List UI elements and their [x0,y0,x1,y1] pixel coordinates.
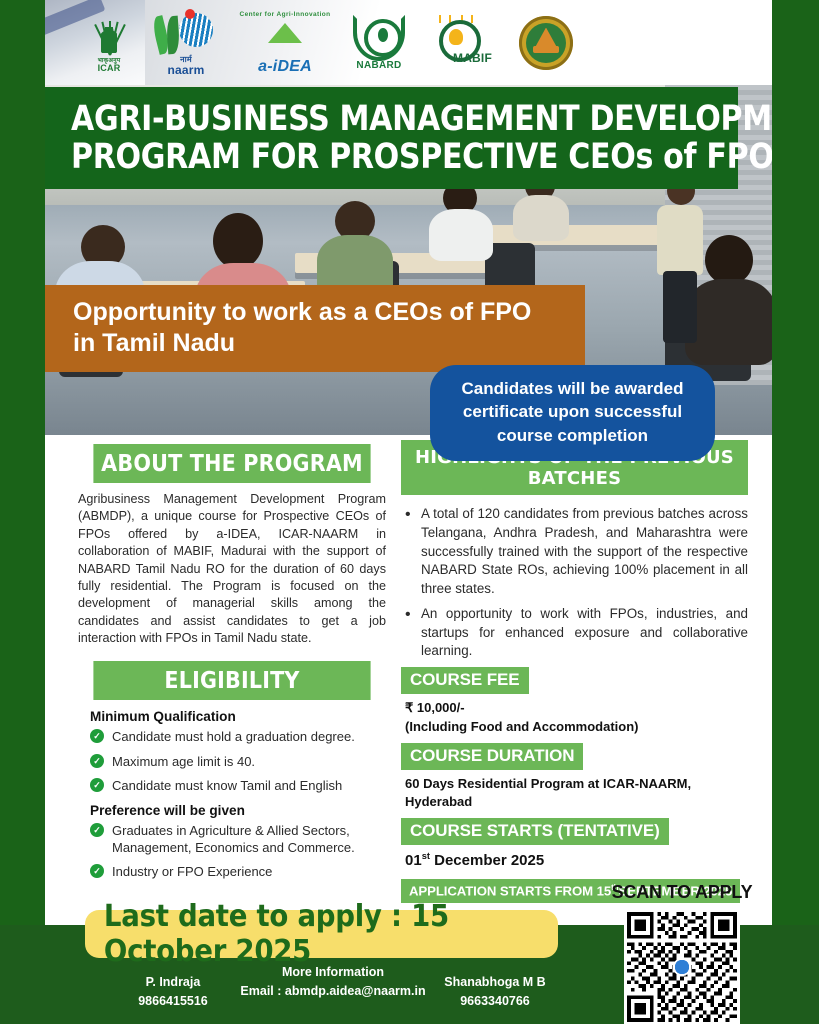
contact-left: P. Indraja 9866415516 [108,973,238,1011]
about-heading: ABOUT THE PROGRAM [93,444,370,483]
mabif-caption: MABIF [453,52,492,64]
qr-code-icon[interactable] [624,909,740,1024]
course-fee-value: ₹ 10,000/- [405,699,748,717]
list-item-label: Candidate must know Tamil and English [112,778,342,793]
contact-right: Shanabhoga M B 9663340766 [430,973,560,1011]
logo-row: भाकृअनुप ICAR नार्म naarm Center [85,0,573,85]
contact-left-name: P. Indraja [108,973,238,992]
title-line-1: AGRI-BUSINESS MANAGEMENT DEVELOPMENT [71,101,645,139]
icar-logo: भाकृअनुप ICAR [85,13,133,73]
icar-caption-en: ICAR [98,63,121,73]
course-fee-note: (Including Food and Accommodation) [405,718,748,736]
tamil-nadu-emblem-logo [519,16,573,70]
aidea-caption: a-iDEA [239,59,331,75]
poster-subtitle: Opportunity to work as a CEOs of FPO in … [45,285,585,372]
subtitle-line-1: Opportunity to work as a CEOs of FPO [73,297,585,328]
more-information-label: More Information [228,963,438,982]
icar-caption: भाकृअनुप ICAR [85,58,133,73]
list-item-label: Candidate must hold a graduation degree. [112,729,355,744]
aidea-logo: Center for Agri-Innovation a-iDEA [239,11,331,75]
globe-leaf-icon [155,10,217,56]
mabif-logo: MABIF [427,18,497,68]
list-item: ✓Industry or FPO Experience [90,863,386,880]
poster-title: AGRI-BUSINESS MANAGEMENT DEVELOPMENT PRO… [45,87,738,189]
check-icon: ✓ [90,778,104,792]
poster-root: भाकृअनुप ICAR नार्म naarm Center [0,0,819,1024]
certificate-badge: Candidates will be awarded certificate u… [430,365,715,461]
nabard-caption: NABARD [353,61,405,71]
naarm-caption-en: naarm [167,63,204,77]
course-starts-label: COURSE STARTS (TENTATIVE) [401,818,669,845]
minimum-qualification-label: Minimum Qualification [90,709,386,724]
bulb-seed-icon: MABIF [427,18,497,68]
contact-right-name: Shanabhoga M B [430,973,560,992]
application-start-prefix: APPLICATION STARTS FROM 15 [409,883,611,898]
preference-list: ✓Graduates in Agriculture & Allied Secto… [78,822,386,880]
list-item: ✓Candidate must hold a graduation degree… [90,728,386,745]
check-icon: ✓ [90,864,104,878]
last-date-text: Last date to apply : 15 October 2025 [104,899,539,969]
list-item-label: Industry or FPO Experience [112,864,272,879]
eligibility-heading: ELIGIBILITY [93,661,370,700]
right-column: HIGHLIGHTS OF THE PREVIOUS BATCHES A tot… [401,440,748,903]
course-starts-month-year: December 2025 [430,852,544,869]
title-line-2: PROGRAM FOR PROSPECTIVE CEOs of FPOs [71,139,645,177]
contact-right-phone: 9663340766 [430,992,560,1011]
contact-left-phone: 9866415516 [108,992,238,1011]
hand-sprout-icon [353,15,405,61]
list-item-label: Graduates in Agriculture & Allied Sector… [112,823,355,855]
list-item-label: Maximum age limit is 40. [112,754,255,769]
scan-to-apply-block: SCAN TO APPLY [592,882,772,1024]
list-item: A total of 120 candidates from previous … [405,505,748,599]
list-item: ✓Maximum age limit is 40. [90,753,386,770]
nabard-logo: NABARD [353,15,405,71]
wheat-ear-icon [85,13,133,57]
contact-more-info: More Information Email : abmdp.aidea@naa… [228,963,438,1001]
list-item: An opportunity to work with FPOs, indust… [405,605,748,661]
minimum-qualification-list: ✓Candidate must hold a graduation degree… [78,728,386,793]
course-starts-day: 01 [405,852,422,869]
last-date-banner: Last date to apply : 15 October 2025 [85,910,558,958]
chevron-arc-icon: Center for Agri-Innovation [239,11,331,61]
left-column: ABOUT THE PROGRAM Agribusiness Managemen… [78,444,386,887]
check-icon: ✓ [90,823,104,837]
scan-title: SCAN TO APPLY [592,882,772,903]
course-starts-ordinal: st [422,851,430,861]
check-icon: ✓ [90,729,104,743]
preference-label: Preference will be given [90,803,386,818]
about-body: Agribusiness Management Development Prog… [78,491,386,647]
list-item: ✓Graduates in Agriculture & Allied Secto… [90,822,386,856]
footer-contacts: P. Indraja 9866415516 More Information E… [100,963,540,1019]
contact-email[interactable]: Email : abmdp.aidea@naarm.in [228,982,438,1001]
check-icon: ✓ [90,754,104,768]
logo-strip: भाकृअनुप ICAR नार्म naarm Center [45,0,772,85]
course-starts-value: 01st December 2025 [405,850,748,871]
state-emblem-icon [519,16,573,70]
course-duration-label: COURSE DURATION [401,743,583,770]
course-duration-value: 60 Days Residential Program at ICAR-NAAR… [405,775,748,810]
list-item: ✓ Candidate must know Tamil and English [90,777,386,794]
subtitle-line-2: in Tamil Nadu [73,328,585,359]
naarm-logo: नार्म naarm [155,10,217,76]
content-area: ABOUT THE PROGRAM Agribusiness Managemen… [45,435,772,925]
highlights-list: A total of 120 candidates from previous … [401,505,748,661]
course-fee-label: COURSE FEE [401,667,529,694]
naarm-caption: नार्म naarm [155,56,217,76]
